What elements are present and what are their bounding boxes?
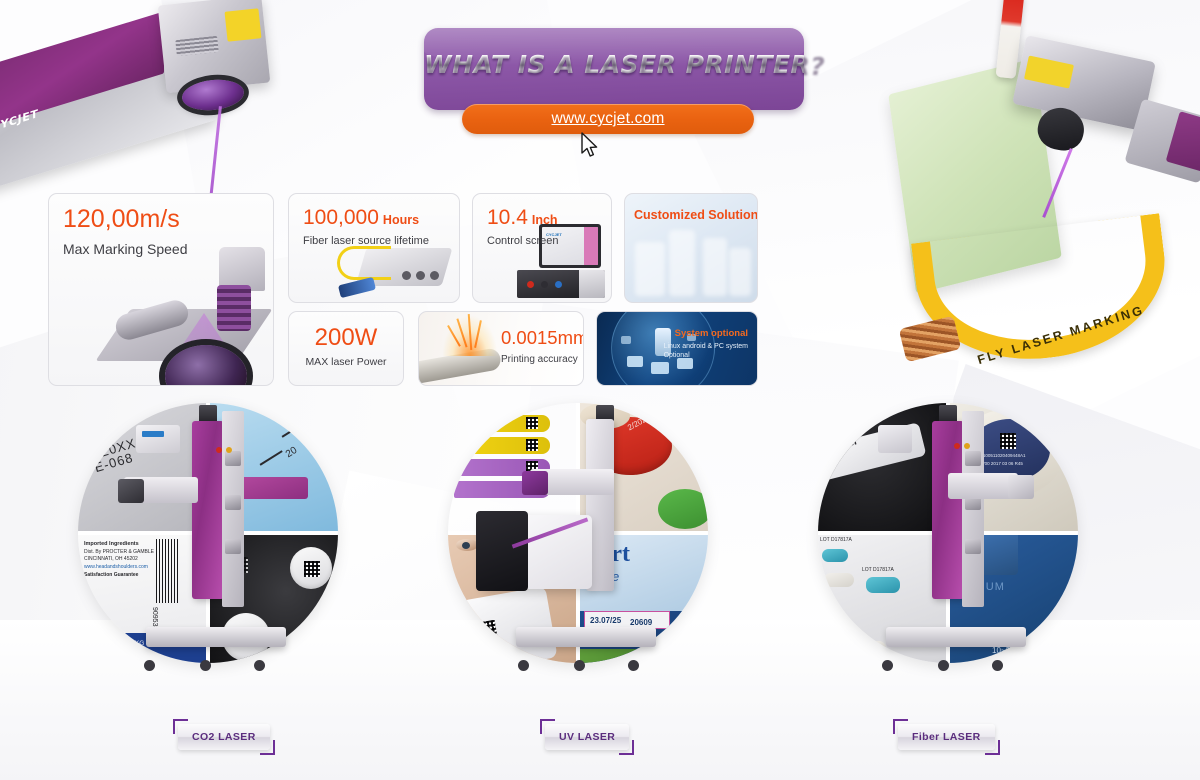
- spec-card-max-speed: 120,00m/s Max Marking Speed: [48, 193, 274, 386]
- spec-caption-hours: Fiber laser source lifetime: [303, 235, 429, 247]
- sample-lot-code: (L)70755395KG: [98, 640, 144, 647]
- page-title: WHAT IS A LASER PRINTER?: [424, 50, 804, 79]
- spec-value-max-speed: 120,00m/s: [63, 207, 188, 232]
- sample-carton-line2: Dist. By PROCTER & GAMBLE: [84, 549, 154, 555]
- hero-right-fly-laser-image: FLY LASER MARKING: [900, 0, 1200, 390]
- product-circle-uv[interactable]: 2/2025 SP gurt eme 23.07/25 20609: [448, 403, 708, 663]
- spec-card-system-optional: System optional Linux android & PC syste…: [596, 311, 758, 386]
- mouse-cursor-icon: [580, 132, 600, 160]
- sample-carton-guarantee: Satisfaction Guarantee: [84, 572, 138, 578]
- spec-value-system: System optional: [675, 328, 748, 339]
- poster-canvas: CYCJET FLY LASER MARKING WHAT IS A LASER…: [0, 0, 1200, 780]
- product-circle-fiber[interactable]: venAir 011100511020409448A1 M'00 2017 03…: [818, 403, 1078, 663]
- spec-value-accuracy: 0.0015mm: [501, 329, 584, 348]
- sample-vacuum-code: 80814 17: [988, 634, 1021, 643]
- sample-carton-site: www.headandshoulders.com: [84, 564, 148, 570]
- sample-carton-brand: Imported Ingredients: [84, 541, 139, 547]
- sample-disc-code2: M'00 2017 03 06 R45: [980, 461, 1023, 466]
- spec-card-printing-accuracy: 0.0015mm Printing accuracy: [418, 311, 584, 386]
- sample-pack-code2: 20609: [630, 618, 652, 627]
- spec-value-hours: 100,000Hours: [303, 207, 429, 228]
- spec-caption-system: Linux android & PC systemOptional: [664, 342, 748, 361]
- spec-caption-screen: Control screen: [487, 235, 559, 247]
- hero-left-laser-machine-image: CYCJET: [0, 0, 286, 194]
- sample-exp-code: EXP. 12/2018: [98, 650, 137, 657]
- sample-disc-code: 011100511020409448A1: [976, 453, 1026, 458]
- circle-label-fiber[interactable]: Fiber LASER: [898, 724, 995, 750]
- sample-yogurt-sub: eme: [594, 569, 619, 584]
- product-circle-co2[interactable]: 20XX.01 E-068 30 20 Imported Ingredients…: [78, 403, 338, 663]
- sample-pack-code: 23.07/25: [590, 616, 621, 625]
- laser-engraving-sparks-image: [418, 312, 503, 386]
- circle-label-co2[interactable]: CO2 LASER: [178, 724, 270, 750]
- spec-value-screen: 10.4Inch: [487, 207, 559, 228]
- spec-card-source-lifetime: 100,000Hours Fiber laser source lifetime: [288, 193, 460, 303]
- sample-vacuum-code2: 10~20: [992, 646, 1014, 655]
- sample-vacuum-word: VACUUM: [952, 581, 1005, 593]
- sample-batch-code: E-068: [93, 450, 135, 475]
- spec-card-max-power: 200W MAX laser Power: [288, 311, 404, 386]
- spec-value-customized: Customized Solution: [634, 208, 758, 222]
- galvo-head-image: [109, 245, 274, 386]
- sample-tick-20: 20: [284, 445, 299, 460]
- website-url-button[interactable]: www.cycjet.com: [462, 104, 754, 134]
- sample-yogurt-word: gurt: [586, 541, 630, 568]
- spec-caption-max-speed: Max Marking Speed: [63, 241, 188, 257]
- circle-label-uv[interactable]: UV LASER: [545, 724, 629, 750]
- sample-blister-lot: LOT D17817A: [820, 537, 852, 543]
- spec-value-power: 200W: [289, 326, 403, 350]
- sample-blister-lot2: LOT D17817A: [862, 567, 894, 573]
- spec-caption-accuracy: Printing accuracy: [501, 354, 584, 365]
- spec-card-control-screen: CYCJET 10.4Inch Control screen: [472, 193, 612, 303]
- title-banner: WHAT IS A LASER PRINTER?: [424, 28, 804, 110]
- spec-caption-power: MAX laser Power: [289, 356, 403, 368]
- spec-card-customized-solution: Customized Solution: [624, 193, 758, 303]
- sample-carton-line3: CINCINNATI, OH 45202: [84, 556, 138, 562]
- sample-tick-30: 30: [306, 417, 321, 432]
